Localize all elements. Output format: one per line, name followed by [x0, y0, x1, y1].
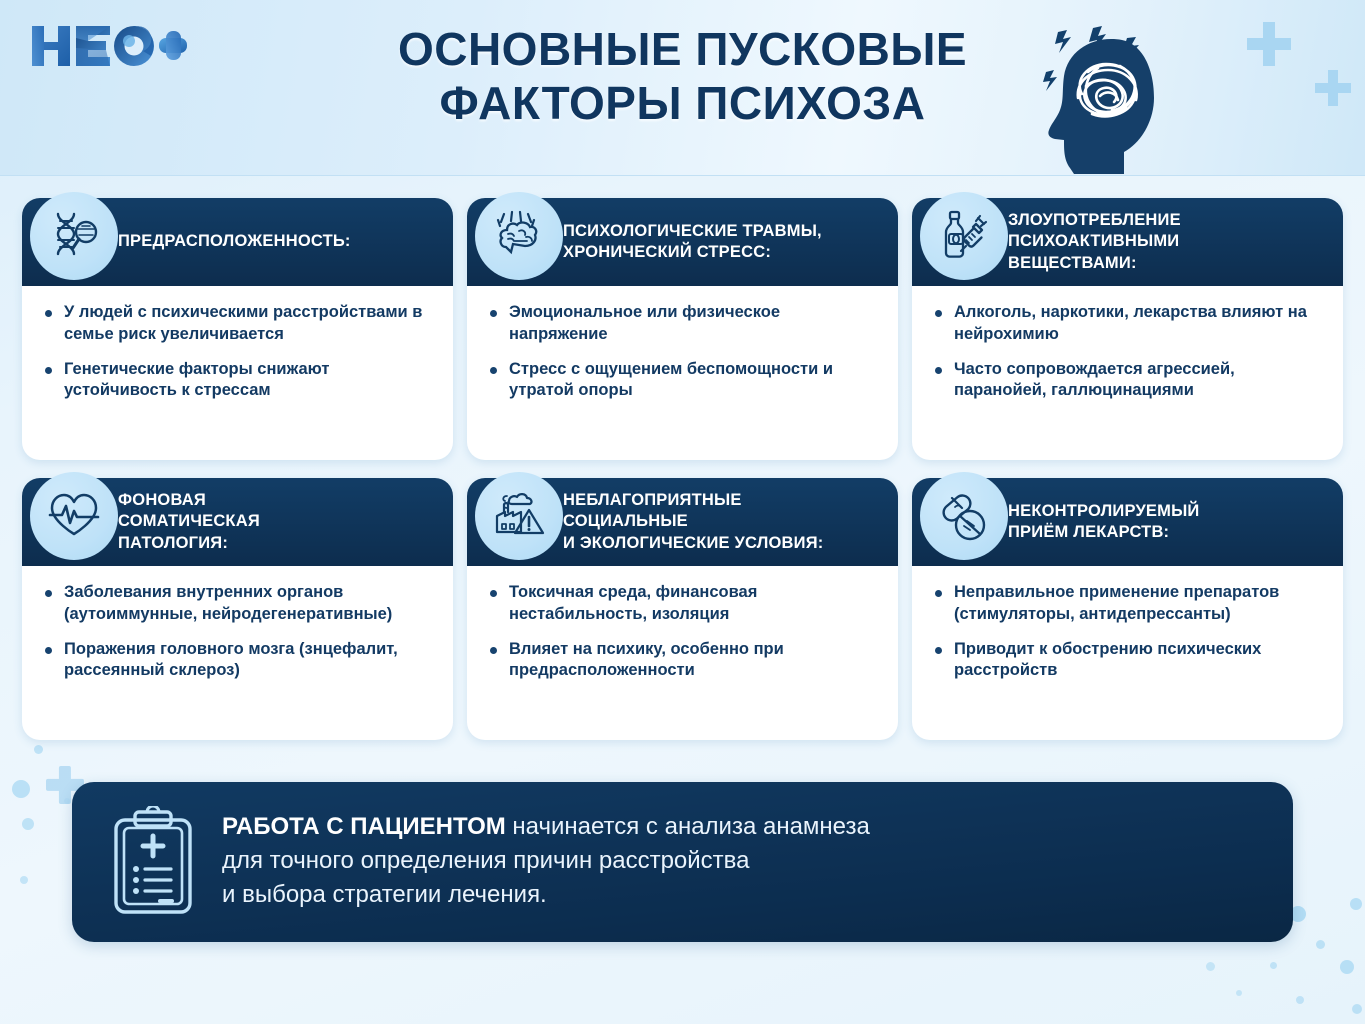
card-title: ФОНОВАЯ СОМАТИЧЕСКАЯ ПАТОЛОГИЯ:	[118, 490, 260, 554]
card-title: ПСИХОЛОГИЧЕСКИЕ ТРАВМЫ, ХРОНИЧЕСКИЙ СТРЕ…	[563, 221, 822, 264]
card-header: НЕБЛАГОПРИЯТНЫЕ СОЦИАЛЬНЫЕ И ЭКОЛОГИЧЕСК…	[467, 478, 898, 566]
factor-card-substance-abuse: ЗЛОУПОТРЕБЛЕНИЕ ПСИХОАКТИВНЫМИ ВЕЩЕСТВАМ…	[912, 198, 1343, 460]
footer-lead-text: РАБОТА С ПАЦИЕНТОМ	[222, 813, 506, 840]
list-item: Алкоголь, наркотики, лекарства влияют на…	[930, 302, 1323, 346]
card-bullet-list: Эмоциональное или физическое напряжение …	[485, 302, 878, 402]
card-header: ЗЛОУПОТРЕБЛЕНИЕ ПСИХОАКТИВНЫМИ ВЕЩЕСТВАМ…	[912, 198, 1343, 286]
card-body: Неправильное применение препаратов (стим…	[912, 566, 1343, 702]
footer-line-2: для точного определения причин расстройс…	[222, 844, 870, 878]
card-body: Заболевания внутренних органов (аутоимму…	[22, 566, 453, 702]
stressed-brain-icon	[475, 192, 563, 280]
list-item: Приводит к обострению психических расстр…	[930, 639, 1323, 683]
bottle-syringe-icon	[920, 192, 1008, 280]
card-header: НЕКОНТРОЛИРУЕМЫЙ ПРИЁМ ЛЕКАРСТВ:	[912, 478, 1343, 566]
list-item: Стресс с ощущением беспомощности и утрат…	[485, 359, 878, 403]
factor-card-uncontrolled-medication: НЕКОНТРОЛИРУЕМЫЙ ПРИЁМ ЛЕКАРСТВ: Неправи…	[912, 478, 1343, 740]
card-body: Алкоголь, наркотики, лекарства влияют на…	[912, 286, 1343, 422]
card-bullet-list: Неправильное применение препаратов (стим…	[930, 582, 1323, 682]
card-title: ЗЛОУПОТРЕБЛЕНИЕ ПСИХОАКТИВНЫМИ ВЕЩЕСТВАМ…	[1008, 210, 1181, 274]
card-header: ПРЕДРАСПОЛОЖЕННОСТЬ:	[22, 198, 453, 286]
card-bullet-list: Алкоголь, наркотики, лекарства влияют на…	[930, 302, 1323, 402]
list-item: Поражения головного мозга (знцефалит, ра…	[40, 639, 433, 683]
list-item: Токсичная среда, финансовая нестабильнос…	[485, 582, 878, 626]
list-item: Неправильное применение препаратов (стим…	[930, 582, 1323, 626]
list-item: Влияет на психику, особенно при предрасп…	[485, 639, 878, 683]
infographic-page: ОСНОВНЫЕ ПУСКОВЫЕ ФАКТОРЫ ПСИХОЗА	[0, 0, 1365, 1024]
footer-line-1: РАБОТА С ПАЦИЕНТОМ начинается с анализа …	[222, 810, 870, 844]
card-body: У людей с психическими расстройствами в …	[22, 286, 453, 422]
card-title: НЕКОНТРОЛИРУЕМЫЙ ПРИЁМ ЛЕКАРСТВ:	[1008, 501, 1199, 544]
decorative-plus-icon	[1315, 70, 1351, 106]
factor-card-somatic-pathology: ФОНОВАЯ СОМАТИЧЕСКАЯ ПАТОЛОГИЯ: Заболева…	[22, 478, 453, 740]
dna-magnifier-icon	[30, 192, 118, 280]
head-with-tangled-thoughts-icon	[1030, 2, 1205, 174]
card-bullet-list: У людей с психическими расстройствами в …	[40, 302, 433, 402]
list-item: Генетические факторы снижают устойчивост…	[40, 359, 433, 403]
list-item: Заболевания внутренних органов (аутоимму…	[40, 582, 433, 626]
factors-grid: ПРЕДРАСПОЛОЖЕННОСТЬ: У людей с психическ…	[0, 176, 1365, 740]
factor-card-social-environment: НЕБЛАГОПРИЯТНЫЕ СОЦИАЛЬНЫЕ И ЭКОЛОГИЧЕСК…	[467, 478, 898, 740]
footer-section: РАБОТА С ПАЦИЕНТОМ начинается с анализа …	[0, 740, 1365, 942]
clipboard-medical-icon	[110, 806, 196, 916]
card-title: ПРЕДРАСПОЛОЖЕННОСТЬ:	[118, 231, 351, 252]
list-item: Часто сопровождается агрессией, паранойе…	[930, 359, 1323, 403]
card-header: ФОНОВАЯ СОМАТИЧЕСКАЯ ПАТОЛОГИЯ:	[22, 478, 453, 566]
card-bullet-list: Заболевания внутренних органов (аутоимму…	[40, 582, 433, 682]
footer-banner: РАБОТА С ПАЦИЕНТОМ начинается с анализа …	[72, 782, 1293, 942]
factor-card-trauma-stress: ПСИХОЛОГИЧЕСКИЕ ТРАВМЫ, ХРОНИЧЕСКИЙ СТРЕ…	[467, 198, 898, 460]
heart-pulse-icon	[30, 472, 118, 560]
pills-icon	[920, 472, 1008, 560]
footer-line-3: и выбора стратегии лечения.	[222, 878, 870, 912]
card-bullet-list: Токсичная среда, финансовая нестабильнос…	[485, 582, 878, 682]
decorative-plus-icon	[1247, 22, 1291, 66]
card-body: Эмоциональное или физическое напряжение …	[467, 286, 898, 422]
factor-card-predisposition: ПРЕДРАСПОЛОЖЕННОСТЬ: У людей с психическ…	[22, 198, 453, 460]
list-item: Эмоциональное или физическое напряжение	[485, 302, 878, 346]
card-body: Токсичная среда, финансовая нестабильнос…	[467, 566, 898, 702]
factory-warning-icon	[475, 472, 563, 560]
card-header: ПСИХОЛОГИЧЕСКИЕ ТРАВМЫ, ХРОНИЧЕСКИЙ СТРЕ…	[467, 198, 898, 286]
list-item: У людей с психическими расстройствами в …	[40, 302, 433, 346]
footer-message: РАБОТА С ПАЦИЕНТОМ начинается с анализа …	[222, 810, 870, 912]
footer-rest-text: начинается с анализа анамнеза	[506, 813, 870, 840]
page-header: ОСНОВНЫЕ ПУСКОВЫЕ ФАКТОРЫ ПСИХОЗА	[0, 0, 1365, 176]
card-title: НЕБЛАГОПРИЯТНЫЕ СОЦИАЛЬНЫЕ И ЭКОЛОГИЧЕСК…	[563, 490, 823, 554]
